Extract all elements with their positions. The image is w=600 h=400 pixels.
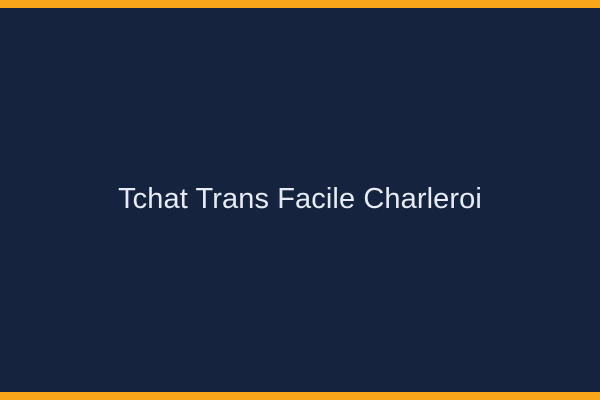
top-accent-rule — [0, 0, 600, 8]
banner-stage: Tchat Trans Facile Charleroi — [0, 8, 600, 392]
title-banner: Tchat Trans Facile Charleroi — [0, 0, 600, 400]
page-title: Tchat Trans Facile Charleroi — [118, 183, 482, 216]
bottom-accent-rule — [0, 392, 600, 400]
